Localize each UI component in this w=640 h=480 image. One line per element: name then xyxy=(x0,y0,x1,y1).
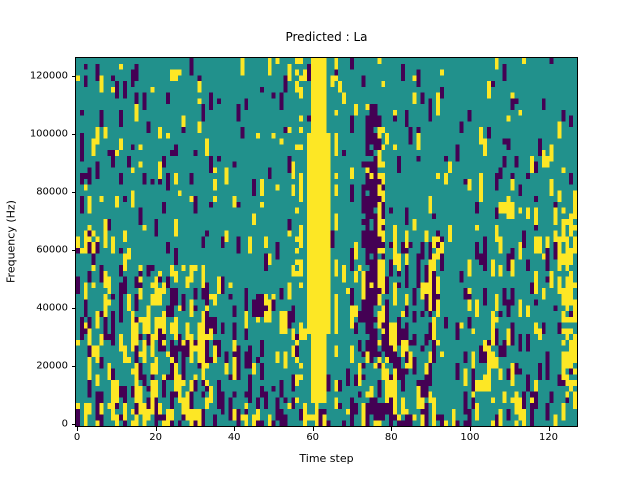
y-tick-mark xyxy=(72,308,76,309)
y-tick-mark xyxy=(72,76,76,77)
x-tick-label: 120 xyxy=(539,432,558,443)
x-tick-mark xyxy=(234,427,235,431)
chart-title: Predicted : La xyxy=(75,30,578,44)
y-tick-mark xyxy=(72,192,76,193)
x-tick-label: 60 xyxy=(306,432,319,443)
x-axis-label: Time step xyxy=(75,452,578,465)
x-tick-label: 100 xyxy=(460,432,479,443)
x-tick-mark xyxy=(156,427,157,431)
x-tick-mark xyxy=(470,427,471,431)
x-tick-mark xyxy=(391,427,392,431)
y-tick-label: 60000 xyxy=(36,245,68,256)
y-tick-label: 100000 xyxy=(30,128,68,139)
heatmap-image xyxy=(76,58,577,426)
x-tick-label: 20 xyxy=(149,432,162,443)
y-tick-label: 20000 xyxy=(36,361,68,372)
x-tick-label: 0 xyxy=(74,432,80,443)
x-tick-mark xyxy=(313,427,314,431)
y-tick-label: 0 xyxy=(62,419,68,430)
matplotlib-figure: Predicted : La 0200004000060000800001000… xyxy=(0,0,640,480)
x-tick-mark xyxy=(77,427,78,431)
y-tick-label: 40000 xyxy=(36,303,68,314)
x-tick-mark xyxy=(549,427,550,431)
y-tick-label: 80000 xyxy=(36,186,68,197)
y-axis-label: Frequency (Hz) xyxy=(5,57,18,427)
heatmap-axes xyxy=(75,57,578,427)
x-tick-label: 40 xyxy=(228,432,241,443)
y-tick-mark xyxy=(72,250,76,251)
y-tick-mark xyxy=(72,424,76,425)
x-tick-label: 80 xyxy=(385,432,398,443)
y-tick-label: 120000 xyxy=(30,70,68,81)
y-tick-mark xyxy=(72,366,76,367)
y-tick-mark xyxy=(72,134,76,135)
